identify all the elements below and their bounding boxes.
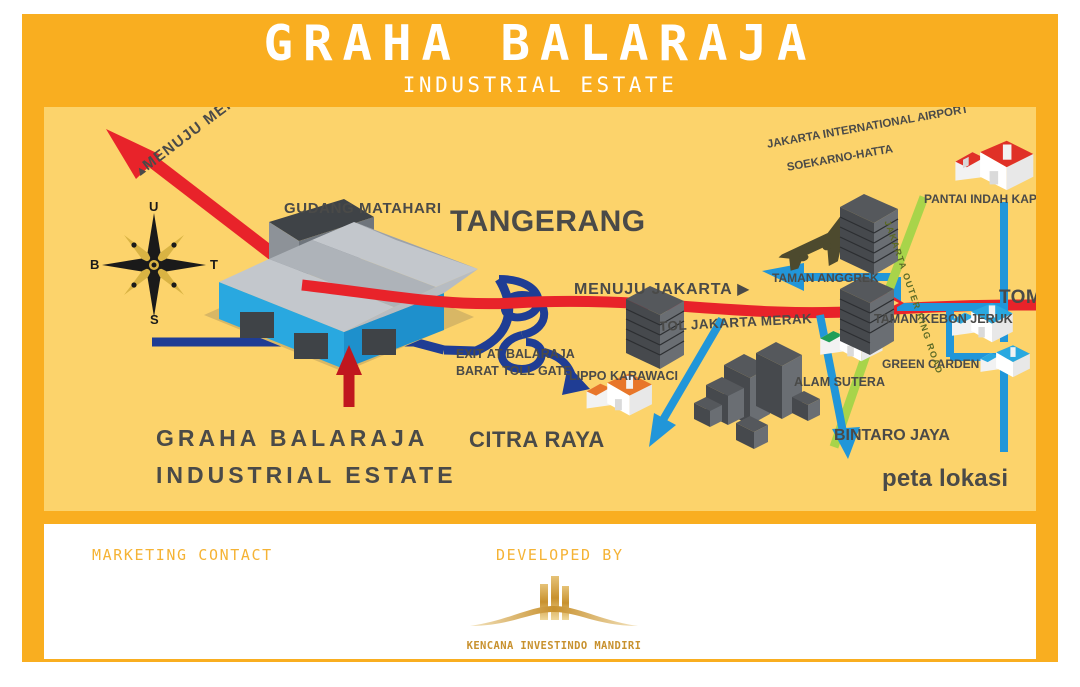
- location-map: ▴MENUJU MERAK GUDANG MATAHARI TANGERANG …: [44, 107, 1036, 511]
- house-green-garden-2: [981, 345, 1030, 377]
- label-taman-anggrek: TAMAN ANGGREK: [772, 271, 879, 285]
- label-tomang: TOMANG: [999, 287, 1036, 309]
- label-exit-balaraja-line1: EXIT AT BALARAJA: [456, 347, 575, 361]
- compass-rose: [102, 213, 206, 317]
- label-citra-raya: CITRA RAYA: [469, 427, 605, 453]
- label-taman-kebon-jeruk: TAMAN KEBON JERUK: [874, 312, 1013, 326]
- marketing-contact-heading: MARKETING CONTACT: [92, 546, 273, 564]
- kencana-logo-mark: [464, 572, 644, 634]
- developer-logo: KENCANA INVESTINDO MANDIRI: [444, 572, 664, 652]
- compass-label-south: S: [150, 312, 159, 327]
- compass-label-north: U: [149, 199, 158, 214]
- label-lippo-karawaci: LIPPO KARAWACI: [569, 369, 678, 383]
- label-tangerang: TANGERANG: [450, 205, 646, 239]
- developer-name: KENCANA INVESTINDO MANDIRI: [444, 640, 664, 652]
- label-pantai-indah-kapuk: PANTAI INDAH KAPUK: [924, 192, 1036, 206]
- estate-name-line1: GRAHA BALARAJA: [156, 425, 428, 452]
- label-exit-balaraja-line2: BARAT TOLL GATE: [456, 364, 572, 378]
- poster-header: GRAHA BALARAJA INDUSTRIAL ESTATE: [22, 14, 1058, 102]
- compass-label-east: T: [210, 257, 218, 272]
- estate-name-line2: INDUSTRIAL ESTATE: [156, 462, 457, 489]
- poster: GRAHA BALARAJA INDUSTRIAL ESTATE: [0, 0, 1080, 687]
- label-bintaro-jaya: BINTARO JAYA: [834, 427, 950, 445]
- label-alam-sutera: ALAM SUTERA: [794, 375, 885, 389]
- building-cluster: [694, 342, 820, 449]
- orange-frame: GRAHA BALARAJA INDUSTRIAL ESTATE: [22, 14, 1058, 662]
- page-subtitle: INDUSTRIAL ESTATE: [403, 73, 677, 97]
- label-gudang-matahari: GUDANG MATAHARI: [284, 200, 442, 217]
- compass-label-west: B: [90, 257, 99, 272]
- map-caption: peta lokasi: [882, 465, 1008, 493]
- developed-by-heading: DEVELOPED BY: [496, 546, 624, 564]
- page-title: GRAHA BALARAJA: [263, 19, 816, 68]
- contact-strip: MARKETING CONTACT DEVELOPED BY: [44, 524, 1036, 659]
- label-menuju-jakarta: MENUJU JAKARTA ▶: [574, 279, 750, 299]
- toll-exit-arrow-head-left: [649, 413, 676, 447]
- house-pantai-indah-kapuk: [955, 141, 1033, 190]
